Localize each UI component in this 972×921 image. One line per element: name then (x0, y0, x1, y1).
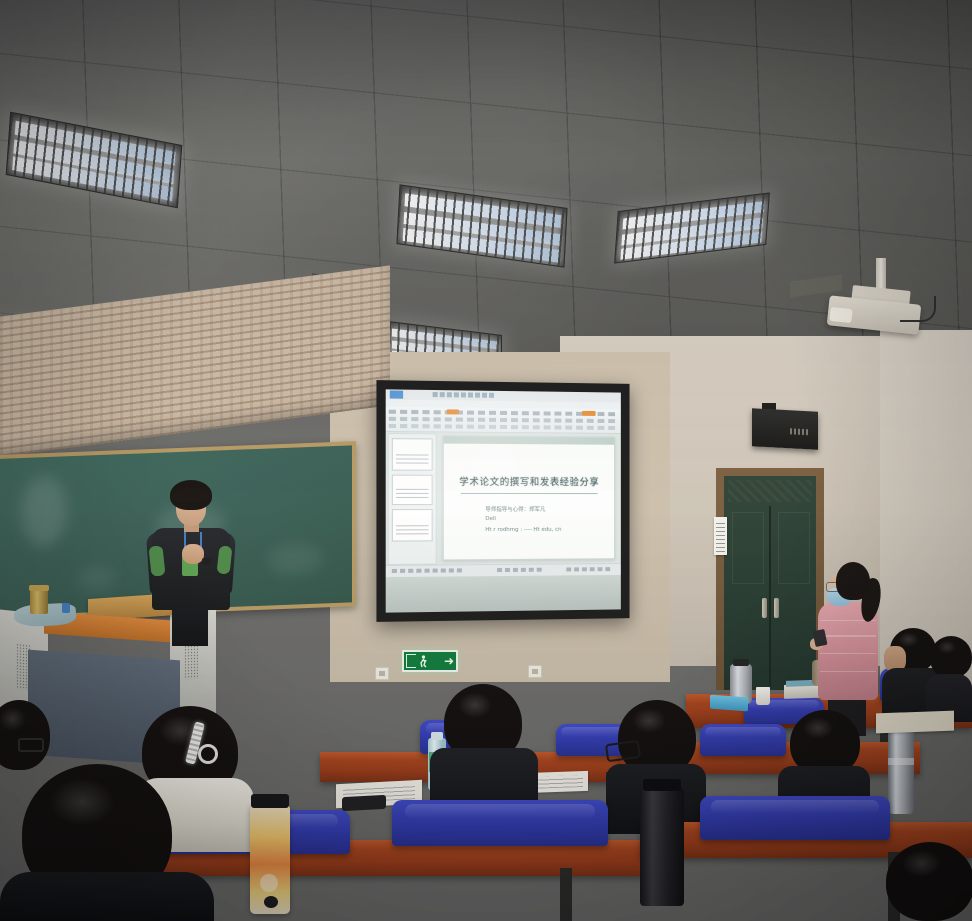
blue-marker (62, 603, 70, 613)
steel-thermos (888, 728, 914, 814)
black-thermos (640, 788, 684, 906)
projector-cable (900, 296, 936, 322)
slide-thumbnail[interactable] (392, 509, 433, 541)
paper-cup (756, 687, 770, 705)
seat (700, 796, 890, 840)
student-head (930, 636, 972, 678)
desk-leg (560, 868, 572, 921)
door-transom-window (728, 480, 812, 502)
current-slide[interactable]: 学术论文的撰写和发表经验分享 导师指导与心得：郑军凡 Dell Ht r rod… (443, 435, 615, 560)
slide-accent-bar (444, 437, 614, 445)
slide-body-line: 导师指导与心得：郑军凡 (485, 505, 545, 513)
presenter-legs (172, 606, 208, 646)
running-man-icon (418, 655, 429, 668)
brass-cup (30, 588, 48, 614)
hair-clip-ring (198, 744, 218, 764)
slide-body-line: Ht r rodhmg : ---- Ht edu, cn (485, 527, 561, 533)
presenter (144, 480, 236, 610)
right-arrow-icon: ➜ (444, 655, 454, 667)
projector-lens-icon (829, 307, 852, 323)
student-head (886, 842, 972, 921)
slide-divider (461, 493, 597, 494)
door-notice (714, 517, 727, 555)
glasses-icon (18, 738, 44, 752)
classroom-door[interactable] (724, 476, 816, 690)
slide-thumbnail-pane[interactable] (388, 433, 437, 565)
projection-screen-frame: 学术论文的撰写和发表经验分享 导师指导与心得：郑军凡 Dell Ht r rod… (376, 380, 629, 622)
seat (700, 724, 786, 756)
file-tab[interactable] (390, 390, 403, 398)
speaker-logo (790, 428, 808, 435)
slide-thumbnail[interactable] (392, 438, 433, 471)
ribbon-highlight-icon (582, 411, 596, 416)
ribbon-highlight-icon (447, 409, 459, 414)
door-panel (732, 512, 764, 584)
wristwatch (202, 558, 211, 565)
jacket-green-panel (148, 545, 165, 576)
emergency-exit-sign: ➜ (402, 650, 458, 672)
presenter-hands (182, 544, 204, 564)
document-name-label (433, 392, 495, 398)
powerpoint-ribbon[interactable] (386, 407, 621, 434)
woman-hair (836, 562, 870, 600)
door-panel (778, 512, 810, 584)
smartphone[interactable] (342, 795, 386, 811)
slide-thumbnail[interactable] (392, 475, 433, 505)
seat (392, 800, 608, 846)
presenter-fringe (172, 488, 210, 502)
exit-door-icon (406, 654, 416, 668)
wall-speaker (752, 408, 818, 449)
student-torso (0, 872, 214, 921)
classroom-photo: 学术论文的撰写和发表经验分享 导师指导与心得：郑军凡 Dell Ht r rod… (0, 0, 972, 921)
door-handle[interactable] (774, 598, 779, 618)
door-handle[interactable] (762, 598, 767, 618)
projection-screen[interactable]: 学术论文的撰写和发表经验分享 导师指导与心得：郑军凡 Dell Ht r rod… (386, 389, 621, 577)
wall-outlet[interactable] (375, 667, 389, 680)
slide-title: 学术论文的撰写和发表经验分享 (458, 473, 601, 487)
fruit-tea-bottle (250, 804, 290, 914)
blue-package (710, 695, 748, 712)
screen-lower-blank (386, 575, 621, 613)
slide-body-line: Dell (485, 516, 496, 522)
wall-outlet[interactable] (528, 665, 542, 678)
cup-lid (29, 585, 49, 591)
door-center-split (769, 506, 771, 686)
notebook (876, 711, 954, 734)
